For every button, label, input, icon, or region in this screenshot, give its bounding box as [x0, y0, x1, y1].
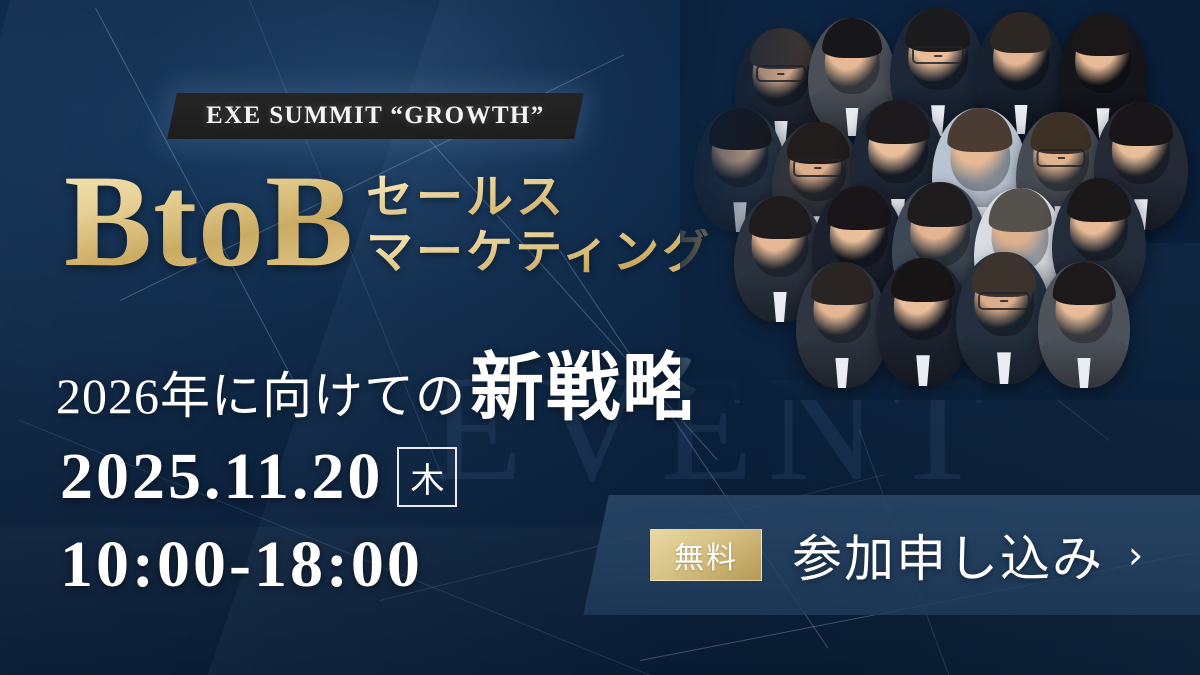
- portrait-hair: [1053, 262, 1116, 305]
- portrait-hair: [811, 262, 874, 305]
- summit-ribbon: EXE SUMMIT “GROWTH”: [167, 93, 583, 139]
- event-time: 10:00-18:00: [60, 532, 423, 598]
- portrait-glasses: [1037, 149, 1086, 167]
- subheadline-small: 2026年に向けての: [56, 356, 466, 428]
- subheadline-big: 新戦略: [470, 328, 698, 435]
- portrait-hair: [749, 196, 812, 239]
- speaker-portrait: [796, 262, 888, 388]
- portrait-hair: [1030, 112, 1091, 154]
- portrait-glasses: [978, 292, 1030, 311]
- subheadline: 2026年に向けての 新戦略: [56, 328, 698, 435]
- headline-kana: セールス マーケティング: [366, 174, 712, 279]
- headline-btob: BtoB: [64, 160, 354, 281]
- chevron-right-icon: ›: [1128, 536, 1143, 574]
- register-button-label: 参加申し込み: [792, 519, 1104, 591]
- headline: BtoB セールス マーケティング: [64, 160, 712, 281]
- event-day-of-week: 木: [397, 447, 457, 507]
- event-date-row: 2025.11.20 木: [60, 444, 457, 510]
- headline-kana-marketing: マーケティング: [366, 229, 712, 278]
- free-badge: 無料: [650, 529, 762, 581]
- speaker-collage: [680, 0, 1200, 400]
- register-button[interactable]: 無料 参加申し込み ›: [650, 495, 1190, 615]
- speaker-portrait: [1038, 262, 1130, 388]
- summit-ribbon-label: EXE SUMMIT “GROWTH”: [206, 102, 545, 130]
- event-banner: EVENT EXE SUMMIT “GROWTH” BtoB セールス マーケテ…: [0, 0, 1200, 675]
- event-date: 2025.11.20: [60, 444, 383, 510]
- headline-kana-sales: セールス: [366, 174, 712, 223]
